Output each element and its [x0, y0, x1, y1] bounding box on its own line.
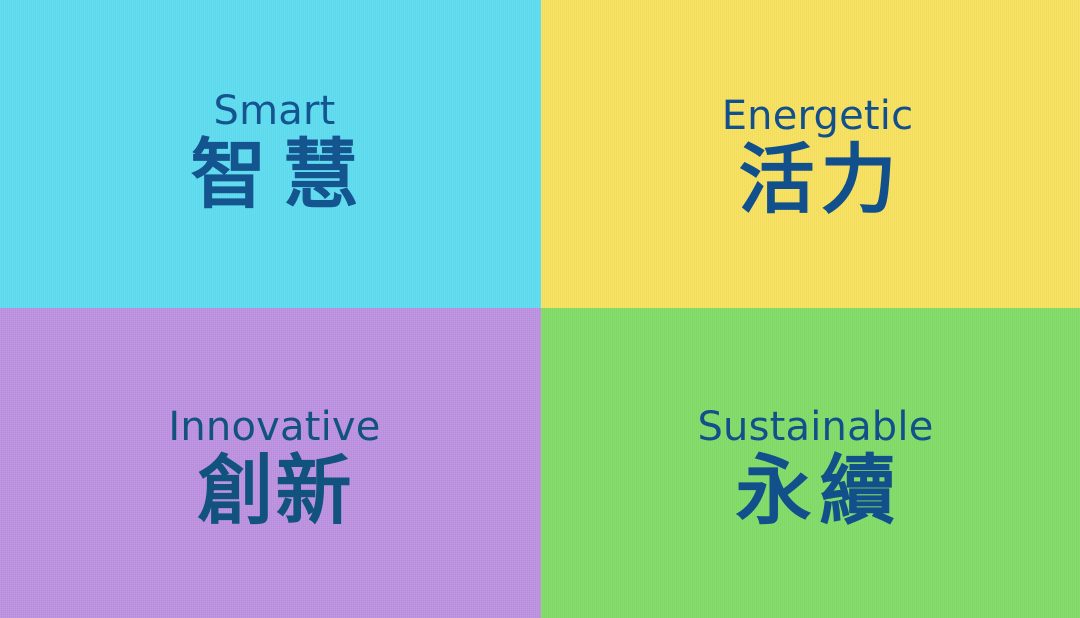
quadrant-smart-chinese-label: 智慧 [175, 133, 375, 217]
quadrant-energetic-labels: Energetic 活力 [541, 0, 1080, 222]
quadrant-innovative-chinese-label: 創新 [196, 449, 354, 533]
quadrant-innovative-english-label: Innovative [168, 405, 380, 449]
quadrant-energetic[interactable]: Energetic 活力 [541, 0, 1080, 308]
quadrant-energetic-english-label: Energetic [722, 94, 914, 138]
quadrant-smart-labels: Smart 智慧 [0, 0, 541, 217]
quadrant-smart-english-label: Smart [214, 89, 336, 133]
quadrant-smart[interactable]: Smart 智慧 [0, 0, 541, 308]
quadrant-innovative[interactable]: Innovative 創新 [0, 308, 541, 618]
quadrant-energetic-chinese-label: 活力 [733, 138, 903, 222]
quadrant-innovative-labels: Innovative 創新 [0, 308, 541, 533]
value-quadrant-grid: Smart 智慧 Energetic 活力 Innovative 創新 Sust… [0, 0, 1080, 618]
quadrant-sustainable[interactable]: Sustainable 永續 [541, 308, 1080, 618]
quadrant-sustainable-chinese-label: 永續 [728, 449, 904, 533]
quadrant-sustainable-labels: Sustainable 永續 [541, 308, 1080, 533]
quadrant-sustainable-english-label: Sustainable [697, 405, 933, 449]
